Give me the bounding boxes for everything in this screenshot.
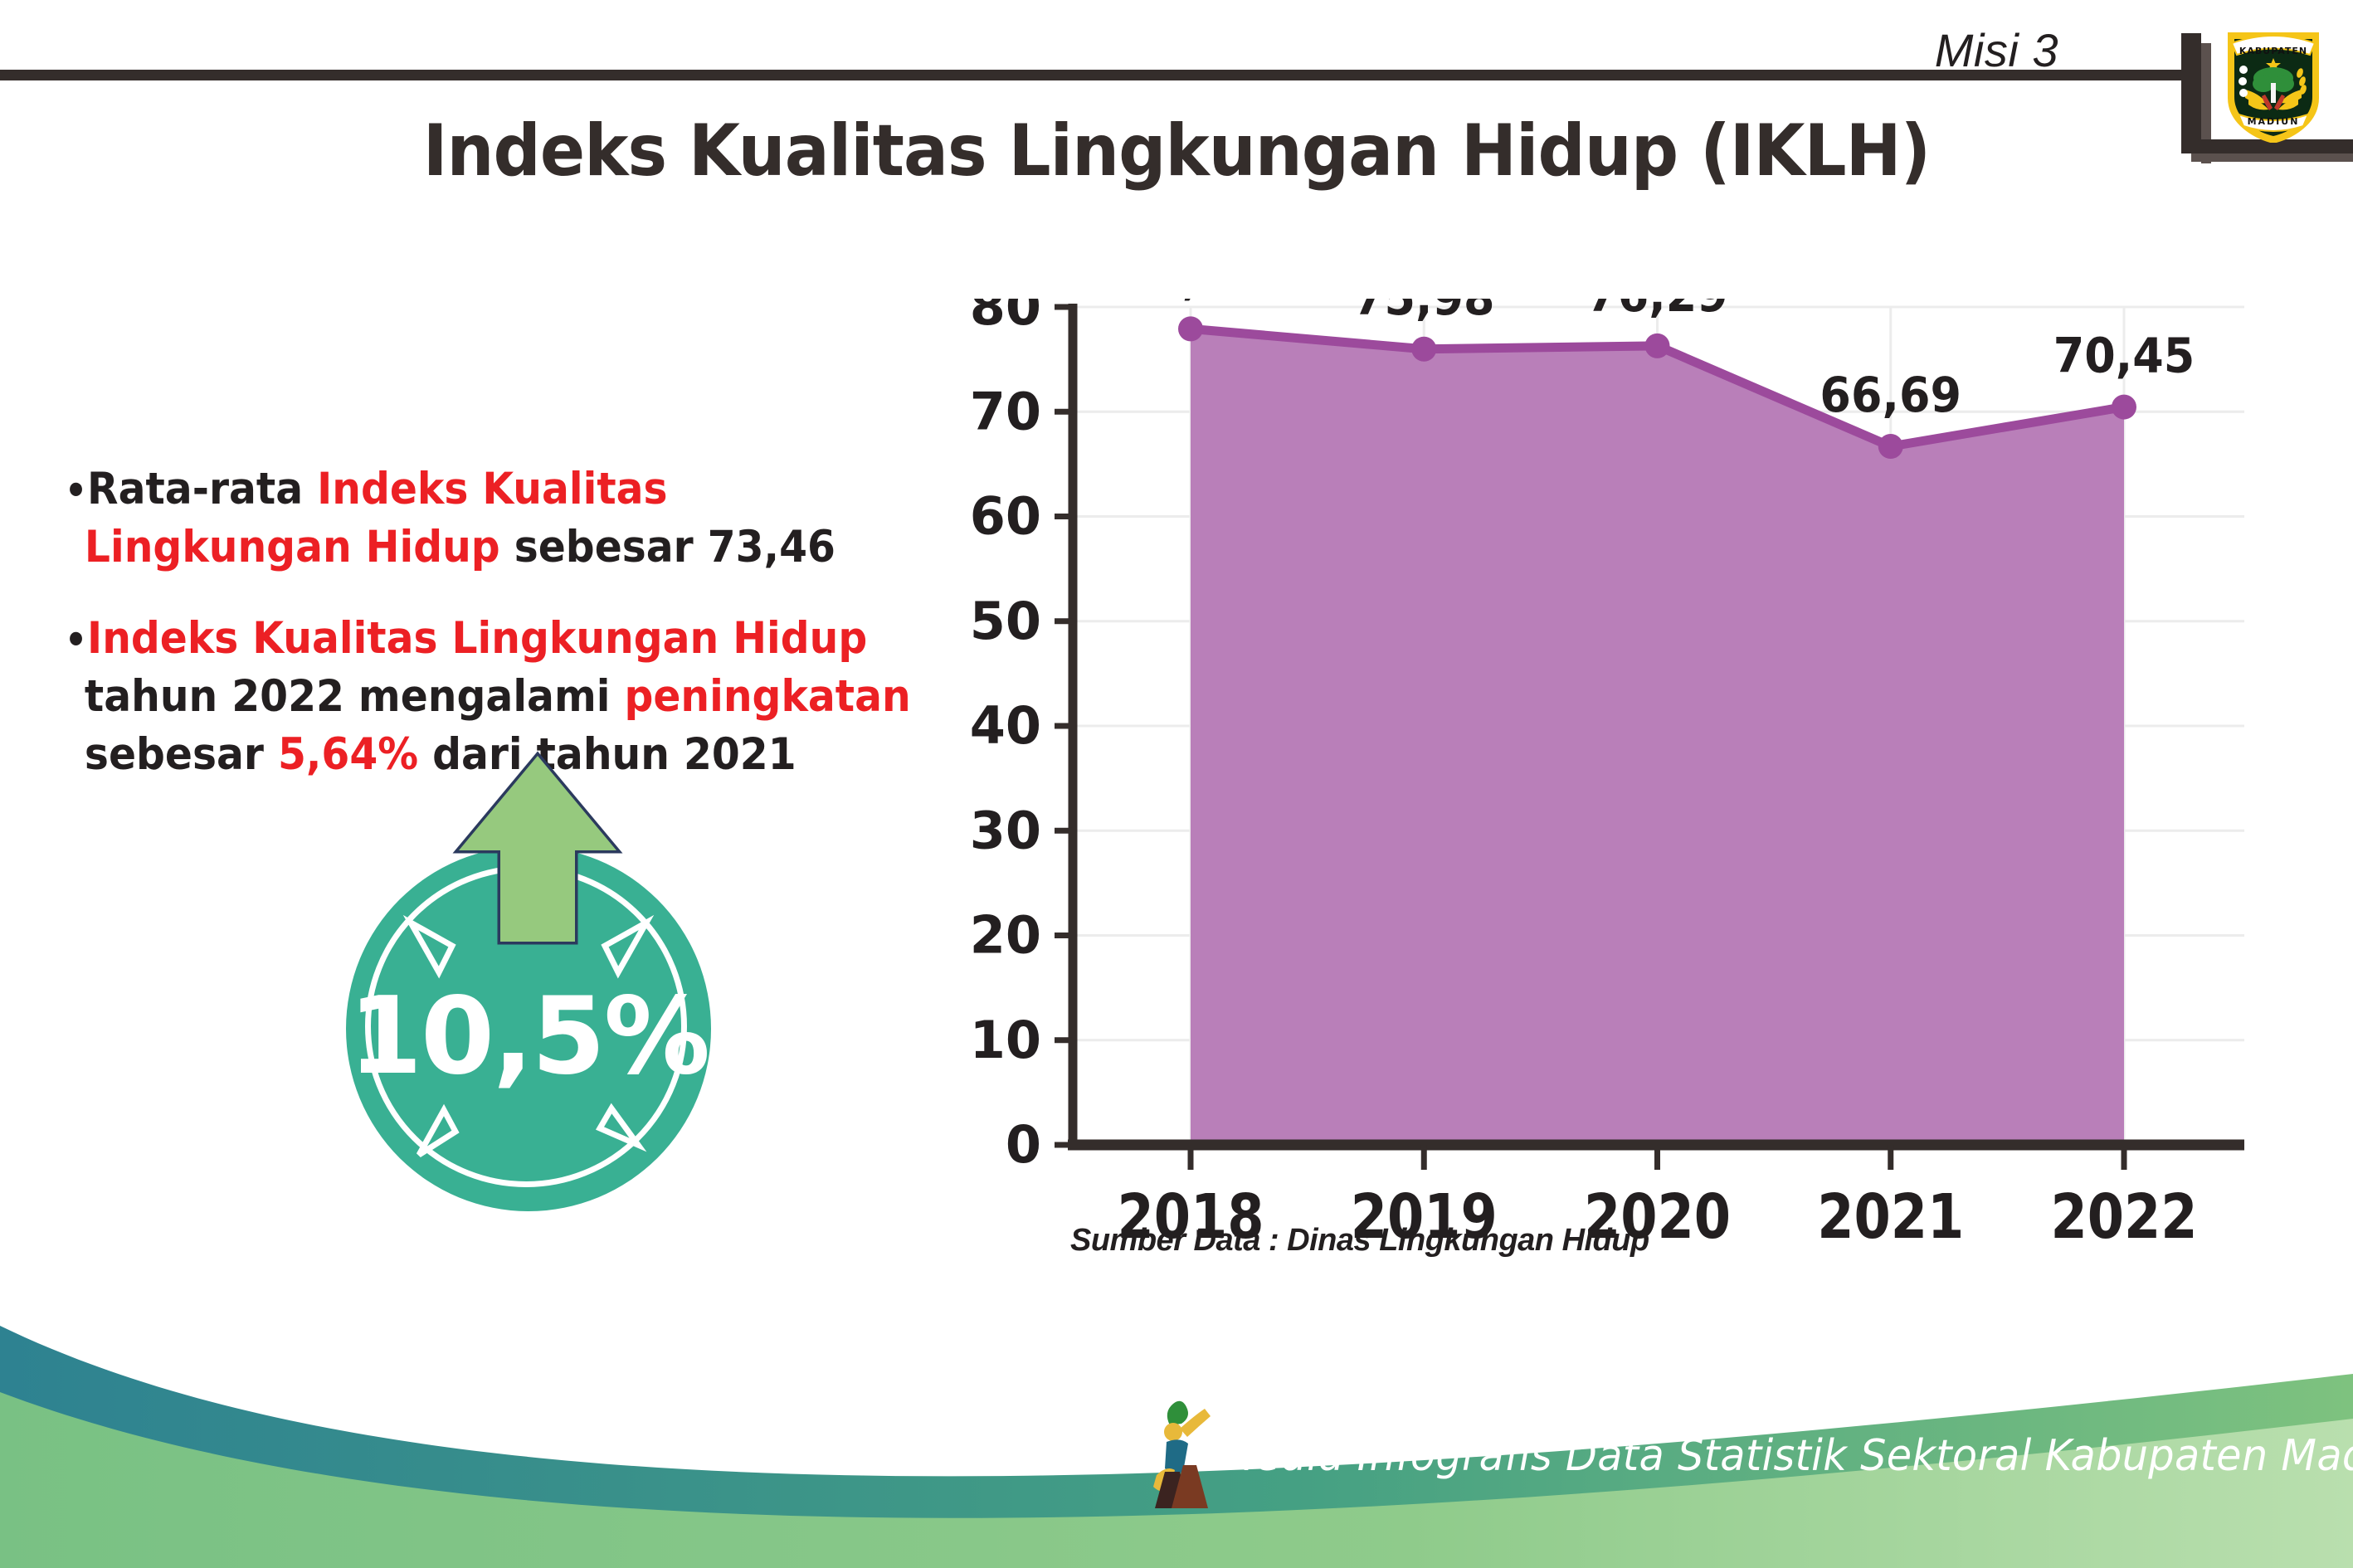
source-note: Sumber Data : Dinas Lingkungan Hidup [1070, 1223, 1649, 1259]
data-label: 75,98 [1353, 299, 1495, 326]
y-axis-tick-label: 10 [970, 1010, 1041, 1070]
y-axis-tick-label: 0 [1006, 1114, 1041, 1175]
footer-caption: Media Infografis Data Statistik Sektoral… [1220, 1431, 2353, 1481]
footer-wave: Media Infografis Data Statistik Sektoral… [0, 1294, 2353, 1568]
svg-text:KABUPATEN: KABUPATEN [2239, 46, 2307, 56]
page-title: Indeks Kualitas Lingkungan Hidup (IKLH) [82, 110, 2270, 192]
y-axis-tick-label: 50 [970, 591, 1041, 651]
y-axis-tick-label: 80 [970, 299, 1041, 337]
data-label: 66,69 [1820, 368, 1961, 423]
data-point [1645, 334, 1670, 358]
list-item: •Rata-rata Indeks Kualitas Lingkungan Hi… [65, 460, 919, 577]
bullet-segment-highlight: Indeks Kualitas Lingkungan Hidup [87, 613, 867, 664]
data-point [1411, 337, 1436, 362]
y-axis-tick-label: 70 [970, 381, 1041, 441]
mission-label: Misi 3 [1935, 23, 2058, 77]
data-label: 76,29 [1586, 299, 1728, 323]
media-infografis-logo-icon [1137, 1395, 1228, 1512]
iklh-area-chart: 77,9175,9876,2966,6970,45010203040506070… [962, 299, 2290, 1278]
increase-badge: 10,5% [328, 751, 759, 1215]
chart-canvas: 77,9175,9876,2966,6970,45010203040506070… [962, 299, 2290, 1278]
data-label: 77,91 [1120, 299, 1262, 306]
bullet-marker: • [65, 617, 87, 662]
data-point [1878, 434, 1903, 459]
y-axis-tick-label: 60 [970, 486, 1041, 547]
bullet-segment: sebesar [85, 729, 278, 780]
bullet-marker: • [65, 468, 87, 513]
area-fill [1191, 329, 2124, 1145]
badge-percent-label: 10,5% [346, 975, 711, 1098]
y-axis-tick-label: 40 [970, 695, 1041, 756]
y-axis-tick-label: 30 [970, 800, 1041, 860]
bullet-segment-highlight: peningkatan [624, 671, 910, 722]
bullet-segment: tahun 2022 mengalami [85, 671, 625, 722]
bullet-segment: Rata-rata [87, 464, 317, 514]
y-axis-tick-label: 20 [970, 905, 1041, 966]
data-point [1178, 316, 1203, 341]
data-label: 70,45 [2053, 329, 2195, 384]
infographic-slide: Misi 3 KABUPATEN [0, 0, 2353, 1568]
bullet-segment: sebesar 73,46 [500, 522, 835, 572]
data-point [2112, 395, 2136, 420]
x-axis-tick-label: 2022 [2050, 1181, 2197, 1253]
x-axis-tick-label: 2021 [1817, 1181, 1964, 1253]
header-divider-line [0, 70, 2207, 80]
